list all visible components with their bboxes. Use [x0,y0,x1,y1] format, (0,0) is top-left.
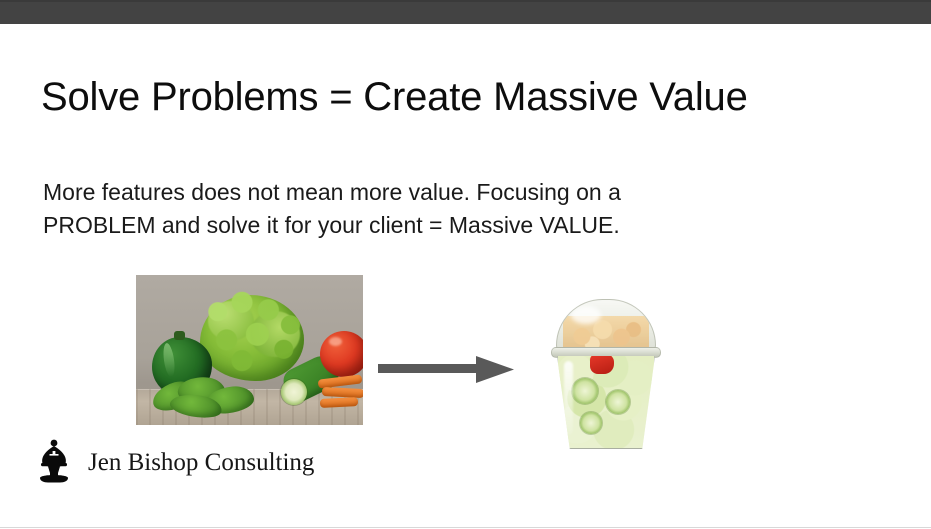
tomato-piece [590,356,614,374]
cucumber-cut-slice [281,379,307,405]
cucumber-slice [572,378,598,404]
brand-name: Jen Bishop Consulting [88,449,314,477]
right-arrow-icon [378,353,514,387]
lid-highlight [571,306,601,324]
presentation-slide: Solve Problems = Create Massive Value Mo… [0,0,931,529]
salad-cup-photo [530,295,685,455]
chess-bishop-icon [34,438,74,488]
cup-highlight [564,361,573,435]
window-title-bar [0,0,931,24]
carrot-stick [320,397,358,408]
pepper-stem [174,331,185,340]
tomato [320,331,363,377]
bottom-divider [0,527,931,528]
slide-body-text: More features does not mean more value. … [43,176,723,241]
page-title: Solve Problems = Create Massive Value [41,75,748,119]
carrot-sticks [318,375,363,409]
brand-logo: Jen Bishop Consulting [34,438,314,488]
fresh-vegetables-photo [136,275,363,425]
carrot-stick [322,387,363,398]
salad-cup [530,295,685,455]
cucumber-slice [580,412,602,434]
cup-domed-lid [556,299,656,351]
cucumber-slice [606,390,630,414]
spinach-leaves [152,375,270,419]
